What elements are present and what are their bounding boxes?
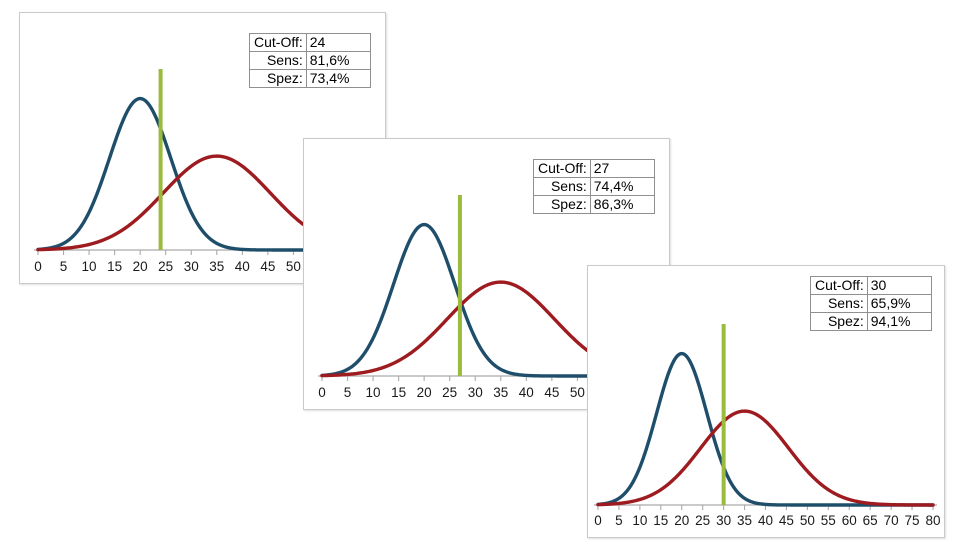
- table-row: Cut-Off: 24: [250, 34, 371, 52]
- svg-text:10: 10: [82, 259, 97, 274]
- svg-text:20: 20: [133, 259, 148, 274]
- table-row: Spez: 86,3%: [534, 196, 655, 214]
- stat-label-spez: Spez:: [811, 313, 868, 331]
- svg-text:50: 50: [286, 259, 301, 274]
- svg-text:20: 20: [417, 385, 432, 400]
- svg-text:65: 65: [863, 513, 878, 528]
- svg-text:20: 20: [674, 513, 689, 528]
- stat-label-cutoff: Cut-Off:: [811, 277, 868, 295]
- stat-label-spez: Spez:: [250, 70, 307, 88]
- svg-text:40: 40: [519, 385, 534, 400]
- table-row: Cut-Off: 27: [534, 160, 655, 178]
- stat-label-sens: Sens:: [811, 295, 868, 313]
- svg-text:35: 35: [493, 385, 508, 400]
- table-row: Sens: 65,9%: [811, 295, 932, 313]
- table-row: Spez: 73,4%: [250, 70, 371, 88]
- stat-label-sens: Sens:: [534, 178, 591, 196]
- svg-text:25: 25: [442, 385, 457, 400]
- stat-value-sens: 65,9%: [867, 295, 931, 313]
- svg-text:70: 70: [884, 513, 899, 528]
- stat-value-spez: 94,1%: [867, 313, 931, 331]
- svg-text:10: 10: [366, 385, 381, 400]
- svg-text:0: 0: [34, 259, 42, 274]
- stat-value-cutoff: 27: [590, 160, 654, 178]
- stat-value-cutoff: 24: [306, 34, 370, 52]
- svg-text:45: 45: [544, 385, 559, 400]
- svg-text:50: 50: [570, 385, 585, 400]
- svg-text:5: 5: [60, 259, 68, 274]
- svg-text:25: 25: [695, 513, 710, 528]
- table-row: Sens: 81,6%: [250, 52, 371, 70]
- table-row: Cut-Off: 30: [811, 277, 932, 295]
- table-row: Spez: 94,1%: [811, 313, 932, 331]
- stat-value-spez: 73,4%: [306, 70, 370, 88]
- svg-text:25: 25: [158, 259, 173, 274]
- svg-text:15: 15: [391, 385, 406, 400]
- table-row: Sens: 74,4%: [534, 178, 655, 196]
- stat-label-spez: Spez:: [534, 196, 591, 214]
- stat-label-cutoff: Cut-Off:: [250, 34, 307, 52]
- stat-label-cutoff: Cut-Off:: [534, 160, 591, 178]
- svg-text:0: 0: [594, 513, 602, 528]
- svg-text:10: 10: [632, 513, 647, 528]
- stat-value-spez: 86,3%: [590, 196, 654, 214]
- svg-text:0: 0: [318, 385, 326, 400]
- svg-text:30: 30: [184, 259, 199, 274]
- svg-text:80: 80: [925, 513, 940, 528]
- svg-text:60: 60: [842, 513, 857, 528]
- stats-table-cutoff-30: Cut-Off: 30 Sens: 65,9% Spez: 94,1%: [810, 276, 932, 331]
- svg-text:35: 35: [737, 513, 752, 528]
- svg-text:30: 30: [716, 513, 731, 528]
- stats-table-cutoff-27: Cut-Off: 27 Sens: 74,4% Spez: 86,3%: [533, 159, 655, 214]
- svg-text:45: 45: [260, 259, 275, 274]
- svg-text:30: 30: [468, 385, 483, 400]
- svg-text:15: 15: [107, 259, 122, 274]
- stat-value-sens: 81,6%: [306, 52, 370, 70]
- svg-text:75: 75: [905, 513, 920, 528]
- svg-text:55: 55: [821, 513, 836, 528]
- svg-text:40: 40: [235, 259, 250, 274]
- stats-table-cutoff-24: Cut-Off: 24 Sens: 81,6% Spez: 73,4%: [249, 33, 371, 88]
- svg-text:35: 35: [209, 259, 224, 274]
- figure-canvas: 0510152025303540455055606 Cut-Off: 24 Se…: [0, 0, 960, 544]
- svg-text:5: 5: [344, 385, 352, 400]
- stat-value-sens: 74,4%: [590, 178, 654, 196]
- stat-label-sens: Sens:: [250, 52, 307, 70]
- chart-panel-cutoff-30[interactable]: 05101520253035404550556065707580 Cut-Off…: [587, 265, 945, 538]
- svg-text:50: 50: [800, 513, 815, 528]
- stat-value-cutoff: 30: [867, 277, 931, 295]
- svg-text:15: 15: [653, 513, 668, 528]
- svg-text:45: 45: [779, 513, 794, 528]
- svg-text:5: 5: [615, 513, 623, 528]
- svg-text:40: 40: [758, 513, 773, 528]
